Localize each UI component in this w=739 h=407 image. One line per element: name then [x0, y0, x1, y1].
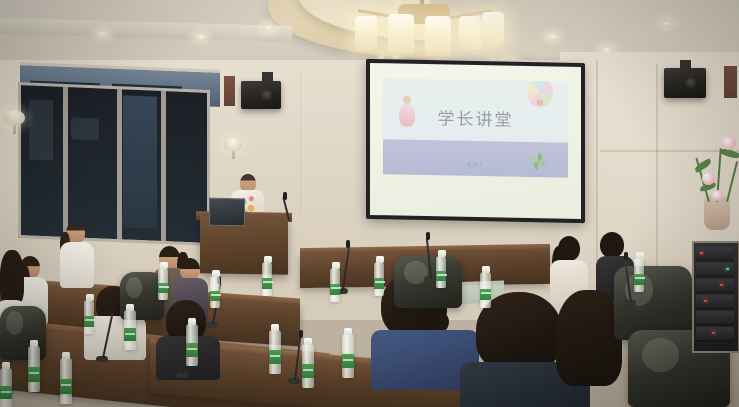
bottle-cap: [212, 270, 220, 277]
bottle-label: [269, 350, 281, 364]
bottle-label: [436, 271, 446, 281]
bottle-cap: [30, 340, 38, 347]
bottle-cap: [482, 266, 490, 273]
microphone-head-icon: [346, 240, 350, 248]
status-led-icon: [704, 300, 707, 302]
water-bottle: [262, 262, 272, 296]
water-bottle: [28, 346, 40, 392]
chandelier-shade: [459, 16, 481, 50]
flower-bloom-icon: [722, 136, 736, 150]
status-led-icon: [712, 332, 715, 334]
laptop-icon: [209, 198, 245, 227]
rack-unit[interactable]: [696, 311, 734, 325]
chandelier-shade: [425, 16, 451, 56]
chandelier-shade: [388, 14, 414, 54]
person-head: [600, 232, 624, 258]
bottle-label: [342, 354, 354, 368]
bottle-cap: [62, 352, 70, 359]
water-bottle: [0, 368, 12, 407]
wall-sconce-icon: [3, 110, 25, 125]
screen-surface: 学长讲堂 主讲人: [370, 63, 581, 219]
long-hair: [0, 250, 24, 306]
rack-unit[interactable]: [696, 295, 734, 309]
bottle-cap: [376, 256, 384, 263]
downlight-icon: [546, 33, 559, 40]
rack-unit[interactable]: [696, 247, 734, 261]
bottle-cap: [304, 338, 312, 345]
bottle-label: [124, 328, 136, 341]
chair-highlight: [642, 338, 679, 372]
bottle-cap: [188, 318, 196, 325]
bottle-label: [186, 343, 198, 356]
wall-seam: [300, 72, 302, 222]
window-mullion: [63, 87, 68, 237]
water-bottle: [60, 358, 72, 404]
bottle-label: [634, 274, 644, 285]
flower-bloom-icon: [702, 172, 715, 185]
microphone-head-icon: [299, 330, 303, 338]
water-bottle: [342, 334, 354, 378]
bottle-cap: [332, 262, 340, 269]
bottle-label: [28, 367, 40, 382]
bottle-cap: [344, 328, 352, 335]
long-hair: [556, 290, 622, 386]
water-bottle: [210, 276, 220, 308]
water-bottle: [302, 344, 314, 388]
presentation-slide: 学长讲堂 主讲人: [383, 78, 569, 177]
bottle-cap: [160, 262, 168, 269]
bottle-label: [60, 379, 72, 394]
balloon-basket-icon: [537, 101, 543, 106]
bottle-cap: [2, 362, 10, 369]
water-bottle: [436, 256, 446, 288]
bottle-label: [0, 386, 12, 399]
water-bottle: [158, 268, 168, 300]
rack-unit[interactable]: [696, 327, 734, 341]
slide-title: 学长讲堂: [383, 103, 569, 132]
speaker-cone-icon: [685, 78, 699, 89]
bottle-cap: [86, 294, 94, 301]
water-bottle: [634, 258, 644, 292]
microphone-head-icon: [283, 192, 287, 200]
bottle-cap: [126, 304, 134, 311]
water-bottle: [374, 262, 384, 296]
status-led-icon: [720, 284, 723, 286]
rack-unit[interactable]: [696, 279, 734, 293]
chandelier-shade: [482, 12, 504, 46]
window: [18, 82, 210, 246]
sconce-stem: [232, 150, 235, 159]
bottle-label: [302, 364, 314, 378]
wall-sconce-icon: [224, 138, 242, 151]
status-led-icon: [700, 252, 703, 254]
rack-unit[interactable]: [696, 263, 734, 277]
bottle-cap: [271, 324, 279, 331]
flower-bloom-icon: [712, 190, 723, 201]
downlight-icon: [262, 24, 275, 31]
speaker-cone-icon: [261, 90, 275, 100]
window-mullion: [117, 89, 122, 239]
projection-screen: 学长讲堂 主讲人: [366, 59, 585, 223]
wall-wood-panel: [724, 66, 737, 98]
wall-speaker-right: [664, 68, 706, 98]
wall-speaker-left: [241, 81, 281, 109]
bottle-cap: [264, 256, 272, 263]
window-mullion: [161, 91, 166, 241]
bottle-label: [158, 283, 168, 293]
girl-head: [403, 95, 411, 103]
water-bottle: [269, 330, 281, 374]
downlight-icon: [194, 33, 207, 40]
water-bottle: [84, 300, 94, 334]
water-bottle: [480, 272, 491, 308]
downlight-icon: [660, 20, 673, 27]
conference-room-photo: 学长讲堂 主讲人: [0, 0, 739, 407]
bottle-label: [84, 316, 94, 327]
bottle-label: [330, 284, 340, 295]
bottle-cap: [636, 252, 644, 259]
bottle-label: [374, 278, 384, 289]
wall-seam: [600, 150, 739, 152]
bottle-label: [262, 278, 272, 289]
downlight-icon: [96, 30, 109, 37]
chair-highlight: [6, 311, 23, 335]
microphone-head-icon: [624, 252, 628, 260]
wall-wood-panel: [224, 76, 235, 106]
microphone-head-icon: [426, 232, 430, 240]
window-pane: [123, 95, 157, 228]
window-reflection: [71, 117, 99, 140]
bottle-cap: [438, 250, 446, 257]
chair-highlight: [126, 277, 142, 298]
bottle-label: [480, 289, 491, 301]
bottle-label: [210, 291, 220, 301]
person-torso: [60, 242, 94, 288]
av-equipment-rack[interactable]: [692, 241, 739, 353]
status-led-icon: [726, 268, 729, 270]
water-bottle: [330, 268, 340, 302]
window-reflection: [29, 99, 53, 160]
water-bottle: [124, 310, 136, 350]
chandelier-shade: [355, 16, 377, 50]
microphone-head-icon: [108, 306, 112, 314]
water-bottle: [186, 324, 198, 366]
